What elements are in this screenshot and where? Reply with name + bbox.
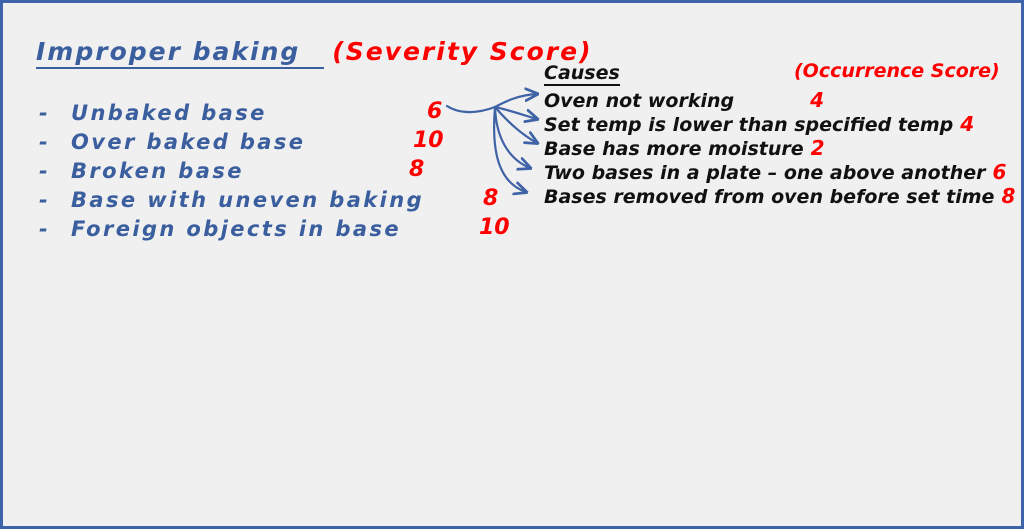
title-row: Improper baking(Severity Score) (36, 39, 593, 69)
list-item: - Base with uneven baking 8 (39, 188, 509, 217)
occurrence-score-heading: (Occurrence Score) (794, 61, 1000, 81)
occurrence-score-value: 4 (953, 112, 974, 136)
cause-label: Set temp is lower than specified temp (544, 114, 953, 136)
bullet-dash-icon: - (39, 101, 48, 125)
occurrence-score-value: 6 (986, 160, 1007, 184)
cause-label: Two bases in a plate – one above another (544, 162, 986, 184)
severity-score-heading: (Severity Score) (332, 39, 592, 64)
occurrence-score-value: 2 (804, 136, 825, 160)
diagram-canvas: Improper baking(Severity Score) - Unbake… (0, 0, 1024, 529)
severity-score-value: 10 (479, 216, 510, 240)
severity-score-value: 6 (427, 100, 442, 124)
failure-mode-label: Broken base (71, 159, 244, 183)
failure-mode-list: - Unbaked base 6 - Over baked base 10 - … (39, 101, 509, 246)
list-item: - Foreign objects in base 10 (39, 217, 509, 246)
bullet-dash-icon: - (39, 217, 48, 241)
bullet-dash-icon: - (39, 130, 48, 154)
bullet-dash-icon: - (39, 188, 48, 212)
causes-heading: Causes (544, 63, 620, 86)
list-item: Two bases in a plate – one above another… (544, 161, 1014, 185)
cause-list: Oven not working4 Set temp is lower than… (544, 89, 1014, 209)
list-item: Set temp is lower than specified temp4 (544, 113, 1014, 137)
severity-score-value: 8 (483, 187, 498, 211)
list-item: Oven not working4 (544, 89, 1014, 113)
cause-label: Oven not working (544, 90, 734, 112)
severity-score-value: 8 (409, 158, 424, 182)
cause-label: Base has more moisture (544, 138, 804, 160)
failure-mode-label: Over baked base (71, 130, 305, 154)
cause-label: Bases removed from oven before set time (544, 186, 994, 208)
list-item: - Over baked base 10 (39, 130, 509, 159)
bullet-dash-icon: - (39, 159, 48, 183)
severity-score-value: 10 (413, 129, 444, 153)
failure-mode-label: Foreign objects in base (71, 217, 401, 241)
failure-mode-label: Base with uneven baking (71, 188, 424, 212)
list-item: Base has more moisture2 (544, 137, 1014, 161)
occurrence-score-value: 8 (994, 184, 1015, 208)
page-title: Improper baking (36, 39, 324, 69)
list-item: - Unbaked base 6 (39, 101, 509, 130)
list-item: - Broken base 8 (39, 159, 509, 188)
failure-mode-label: Unbaked base (71, 101, 267, 125)
occurrence-score-value: 4 (734, 88, 824, 112)
list-item: Bases removed from oven before set time8 (544, 185, 1014, 209)
